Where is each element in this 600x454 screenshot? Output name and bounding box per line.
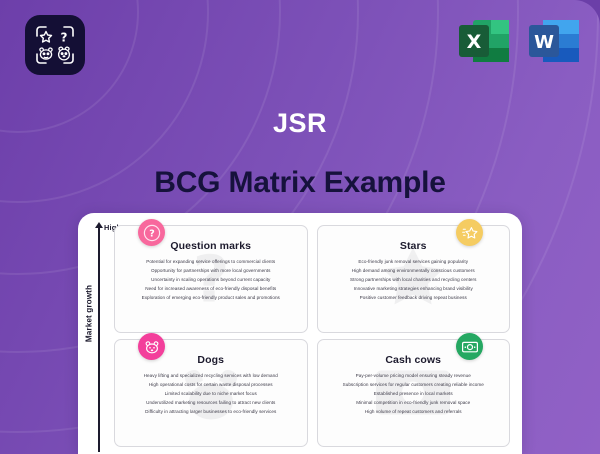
list-item: Minimal competition in eco-friendly junk… (326, 399, 502, 408)
quadrant-grid: ? Question marks Potential for expanding… (114, 225, 510, 447)
svg-text:X: X (467, 31, 482, 53)
svg-text:W: W (534, 32, 554, 53)
slide-background: ? (0, 0, 600, 454)
cash-icon (456, 333, 483, 360)
svg-text:?: ? (149, 228, 155, 239)
quadrant-stars[interactable]: Stars Eco-friendly junk removal services… (317, 225, 511, 333)
list-item: Potential for expanding service offering… (123, 258, 299, 267)
bcg-matrix-logo-icon: ? (25, 15, 85, 75)
excel-icon: X (455, 12, 513, 70)
brand-title: JSR (0, 108, 600, 139)
quadrant-item-list: Eco-friendly junk removal services gaini… (326, 258, 502, 303)
list-item: Underutilized marketing resources failin… (123, 399, 299, 408)
list-item: Heavy lifting and specialized recycling … (123, 372, 299, 381)
list-item: Need for increased awareness of eco-frie… (123, 285, 299, 294)
list-item: Opportunity for partnerships with more l… (123, 267, 299, 276)
list-item: Eco-friendly junk removal services gaini… (326, 258, 502, 267)
list-item: Pay-per-volume pricing model ensuring st… (326, 372, 502, 381)
quadrant-item-list: Pay-per-volume pricing model ensuring st… (326, 372, 502, 417)
list-item: Subscription services for regular custom… (326, 381, 502, 390)
list-item: Strong partnerships with local charities… (326, 276, 502, 285)
list-item: Uncertainty in scaling operations beyond… (123, 276, 299, 285)
list-item: High operational costs for certain waste… (123, 381, 299, 390)
word-icon: W (525, 12, 583, 70)
list-item: High volume of repeat customers and refe… (326, 408, 502, 417)
list-item: Positive customer feedback driving repea… (326, 294, 502, 303)
quadrant-cash-cows[interactable]: Cash cows Pay-per-volume pricing model e… (317, 339, 511, 447)
list-item: Difficulty in attracting larger business… (123, 408, 299, 417)
star-icon (456, 219, 483, 246)
list-item: Limited scalability due to niche market … (123, 390, 299, 399)
dog-icon (138, 333, 165, 360)
bcg-matrix-card: High Market growth ? (78, 213, 522, 454)
list-item: Innovative marketing strategies enhancin… (326, 285, 502, 294)
page-title: BCG Matrix Example (0, 166, 600, 200)
svg-text:?: ? (61, 31, 68, 45)
market-growth-axis (98, 227, 100, 452)
axis-vertical-label: Market growth (85, 279, 94, 349)
list-item: High demand among environmentally consci… (326, 267, 502, 276)
question-mark-icon: ? (138, 219, 165, 246)
list-item: Established presence in local markets (326, 390, 502, 399)
list-item: Exploration of emerging eco-friendly pro… (123, 294, 299, 303)
quadrant-item-list: Potential for expanding service offering… (123, 258, 299, 303)
office-icons: X W (455, 12, 583, 70)
quadrant-item-list: Heavy lifting and specialized recycling … (123, 372, 299, 417)
